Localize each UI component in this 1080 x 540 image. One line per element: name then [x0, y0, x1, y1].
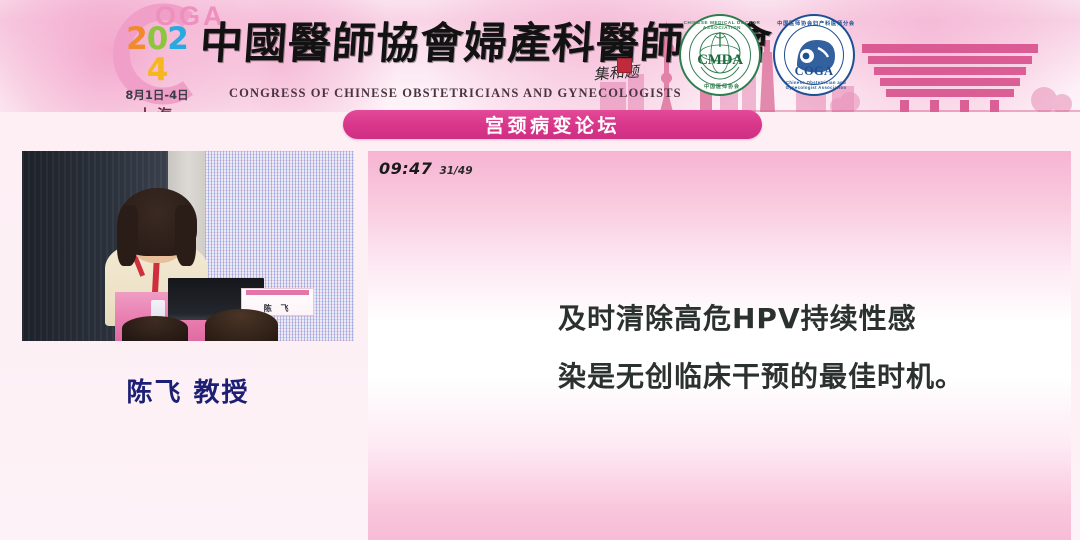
forum-title-banner: 宫颈病变论坛 — [343, 110, 762, 139]
video-audience-head — [122, 316, 188, 341]
event-city: 上海 — [118, 104, 196, 112]
cmda-logo-inner: CMDA — [689, 24, 751, 86]
placard-accent-bar — [246, 290, 309, 295]
slide-line: 染是无创临床干预的最佳时机。 — [558, 355, 1011, 395]
coga-logo: 中国医师协会妇产科医师分会 Chinese Obstetrician and G… — [773, 14, 855, 96]
video-audience-head — [205, 309, 278, 341]
event-dates: 8月1日-4日 — [118, 87, 196, 103]
mother-and-child-icon — [787, 26, 843, 80]
speaker-hair-side — [175, 205, 196, 265]
placard-name-text: 陈 飞 — [264, 303, 292, 314]
speaker-video-feed[interactable]: 陈 飞 — [22, 151, 354, 341]
speaker-name-label: 陈飞 教授 — [22, 372, 354, 409]
broadcast-viewer: OGA 2024 8月1日-4日 上海 中國醫師協會婦產科醫師大會 集和题 CO… — [0, 0, 1080, 540]
red-seal-stamp — [617, 58, 632, 73]
presentation-slide[interactable]: 09:47 31/49 及时清除高危HPV持续性感 染是无创临床干预的最佳时机。 — [368, 151, 1071, 540]
slide-line: 及时清除高危HPV持续性感 — [558, 297, 1011, 337]
forum-title-text: 宫颈病变论坛 — [485, 111, 620, 138]
year-logo-block: 2024 8月1日-4日 上海 — [118, 24, 196, 112]
coga-logo-inner: COGA — [784, 25, 844, 85]
year-text: 2024 — [118, 24, 196, 86]
speaker-hair-side — [117, 205, 138, 265]
cmda-abbrev: CMDA — [690, 52, 750, 69]
slide-text-block: 及时清除高危HPV持续性感 染是无创临床干预的最佳时机。 — [368, 151, 1071, 540]
event-banner: OGA 2024 8月1日-4日 上海 中國醫師協會婦產科醫師大會 集和题 CO… — [0, 0, 1080, 112]
congress-title-english: CONGRESS OF CHINESE OBSTETRICIANS AND GY… — [229, 86, 682, 101]
cmda-logo: CHINESE MEDICAL DOCTOR ASSOCIATION 中国医师协… — [679, 14, 761, 96]
